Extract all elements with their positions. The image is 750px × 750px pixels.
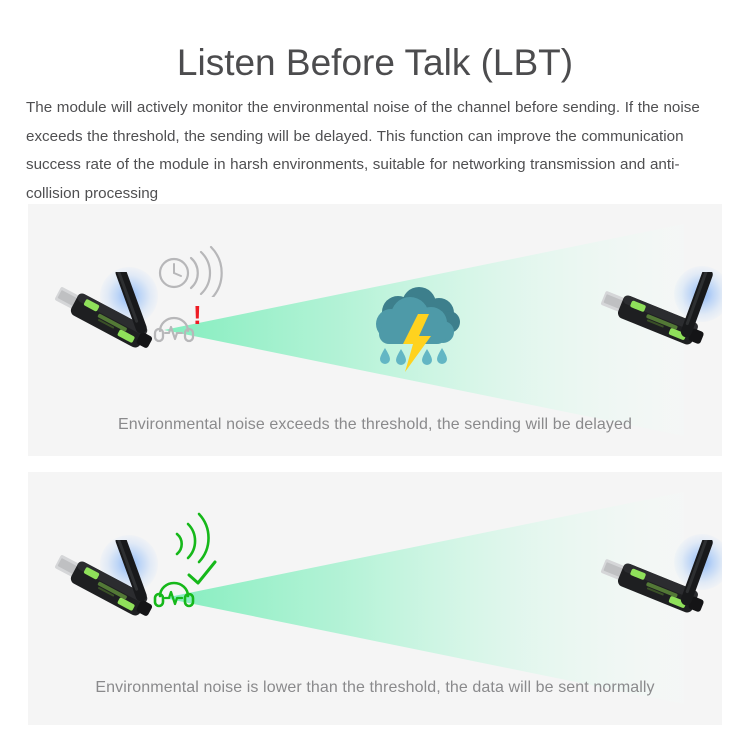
page-title: Listen Before Talk (LBT): [0, 42, 750, 84]
alert-exclamation-icon: !: [193, 302, 202, 328]
panel-caption-noise-low: Environmental noise is lower than the th…: [28, 679, 722, 697]
intro-paragraph: The module will actively monitor the env…: [26, 94, 726, 208]
panel-noise-low: Environmental noise is lower than the th…: [28, 472, 722, 725]
panel-noise-high: ! Environmental noise exceeds the thresh…: [28, 204, 722, 456]
clock-with-waves-icon: [157, 245, 229, 297]
check-icon: [186, 560, 218, 588]
signal-waves-icon: [165, 508, 223, 564]
storm-cloud-icon: [361, 286, 469, 374]
noise-monitor-headset-icon: [152, 307, 196, 347]
panel-caption-noise-high: Environmental noise exceeds the threshol…: [28, 416, 722, 434]
usb-module-right: [592, 272, 722, 372]
usb-module-right: [592, 540, 722, 640]
